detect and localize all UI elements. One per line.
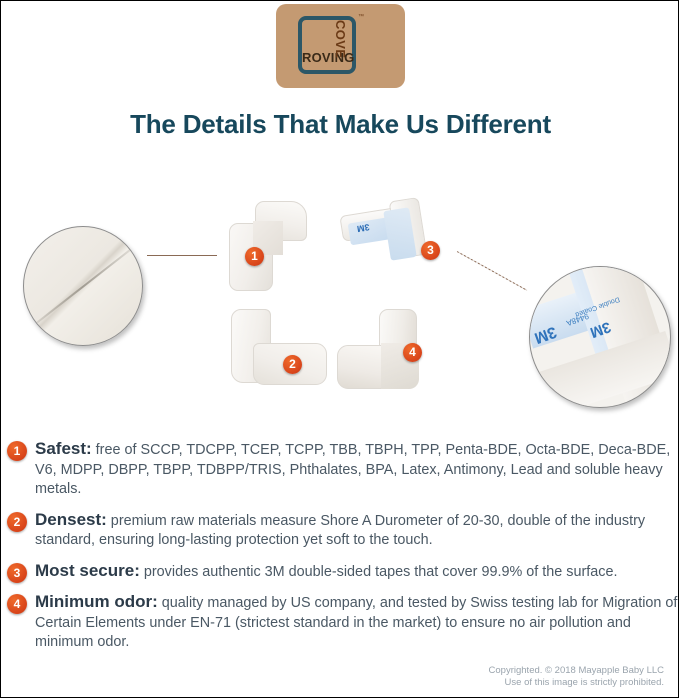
list-badge-2: 2 (7, 512, 27, 532)
list-item-text: Safest: free of SCCP, TDCPP, TCEP, TCPP,… (35, 439, 679, 500)
corner-guard-1: 1 (229, 201, 307, 291)
hero-callout-badge-2[interactable]: 2 (283, 355, 302, 374)
copyright-line-2: Use of this image is strictly prohibited… (489, 677, 664, 689)
list-item-text: Minimum odor: quality managed by US comp… (35, 592, 679, 653)
corner-guard-2: 2 (231, 309, 327, 391)
copyright-line-1: Copyrighted. © 2018 Mayapple Baby LLC (489, 665, 664, 677)
hero-callout-badge-4[interactable]: 4 (403, 343, 422, 362)
list-item: 3 Most secure: provides authentic 3M dou… (1, 561, 679, 583)
list-item-body: premium raw materials measure Shore A Du… (35, 513, 645, 549)
list-item-lead: Densest: (35, 510, 107, 529)
corner-guard-3-with-tape: 3M 3 (337, 197, 447, 277)
list-item-text: Most secure: provides authentic 3M doubl… (35, 561, 679, 583)
logo-text-cove: COVE (333, 20, 348, 58)
product-illustration-area: 1 2 3M 3 4 3M 3M 9448A Double Coated (1, 181, 679, 421)
page-title: The Details That Make Us Different (1, 109, 679, 140)
hero-callout-badge-3[interactable]: 3 (421, 241, 440, 260)
list-badge-4: 4 (7, 594, 27, 614)
copyright-notice: Copyrighted. © 2018 Mayapple Baby LLC Us… (489, 665, 664, 689)
hero-callout-badge-1[interactable]: 1 (245, 247, 264, 266)
trademark-symbol: ™ (358, 14, 364, 20)
list-item-text: Densest: premium raw materials measure S… (35, 510, 679, 551)
list-item-lead: Safest: (35, 439, 92, 458)
brand-logo-badge: ROVING COVE ™ (276, 4, 405, 88)
callout-connector-right (457, 251, 527, 291)
list-item-lead: Minimum odor: (35, 592, 158, 611)
list-item-body: provides authentic 3M double-sided tapes… (140, 564, 618, 580)
tape-brand-label-3: 3M (356, 222, 370, 234)
feature-list: 1 Safest: free of SCCP, TDCPP, TCEP, TCP… (1, 439, 679, 663)
list-item-lead: Most secure: (35, 561, 140, 580)
tape-closeup-magnifier: 3M 3M 9448A Double Coated (529, 266, 671, 408)
list-item: 1 Safest: free of SCCP, TDCPP, TCEP, TCP… (1, 439, 679, 500)
list-item-body: free of SCCP, TDCPP, TCEP, TCPP, TBB, TB… (35, 442, 670, 497)
list-badge-3: 3 (7, 563, 27, 583)
foam-density-closeup-magnifier (23, 226, 143, 346)
foam-seam-line (23, 235, 143, 338)
corner-guard-4: 4 (337, 309, 433, 393)
list-badge-1: 1 (7, 441, 27, 461)
list-item: 4 Minimum odor: quality managed by US co… (1, 592, 679, 653)
callout-connector-left (147, 255, 217, 256)
list-item: 2 Densest: premium raw materials measure… (1, 510, 679, 551)
